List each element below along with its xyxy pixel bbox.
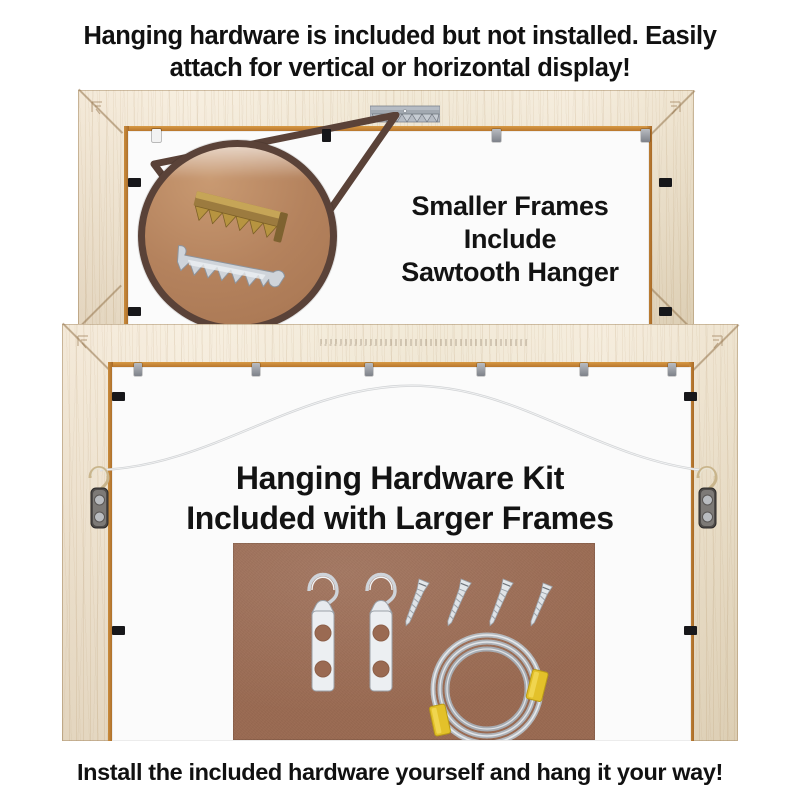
hanging-hardware-kit-label: Hanging Hardware Kit Included with Large… [130,458,670,538]
kit-contents-illustration [233,543,595,740]
magnified-sawtooth-hangers-icon [145,147,330,325]
backing-clip [684,392,697,401]
magnifier-circle [138,140,337,332]
hanging-hardware-kit-photo [233,543,595,740]
corner-staple-mark-left-icon [90,98,116,120]
backing-clip [659,178,672,187]
smaller-frames-label-line-2: Include [360,223,660,256]
d-ring-strap-hanger-left-icon [78,452,122,532]
backing-clip [477,363,485,376]
corner-staple-mark-left-icon [76,332,102,354]
top-caption-line-1: Hanging hardware is included but not ins… [0,20,800,52]
backing-clip [128,178,141,187]
backing-clip [668,363,676,376]
backing-clip [152,129,161,142]
backing-clip [641,129,650,142]
backing-clip [365,363,373,376]
backing-clip [134,363,142,376]
smaller-frames-label-line-1: Smaller Frames [360,190,660,223]
corner-staple-mark-right-icon [698,332,724,354]
backing-clip [492,129,501,142]
backing-clip [112,392,125,401]
backing-clip [112,626,125,635]
backing-clip [684,626,697,635]
backing-clip [659,307,672,316]
kit-d-ring-2 [367,575,395,692]
kit-screws [401,579,552,628]
bottom-caption: Install the included hardware yourself a… [0,757,800,787]
backing-clip [128,307,141,316]
hanging-hardware-kit-label-line-1: Hanging Hardware Kit [130,458,670,498]
hanging-hardware-kit-label-line-2: Included with Larger Frames [130,498,670,538]
top-rail-scuff [320,339,530,346]
backing-clip [322,129,331,142]
smaller-frames-label: Smaller Frames Include Sawtooth Hanger [360,190,660,289]
backing-clip [252,363,260,376]
smaller-frames-label-line-3: Sawtooth Hanger [360,256,660,289]
infographic-canvas: Hanging hardware is included but not ins… [0,0,800,800]
backing-clip [580,363,588,376]
kit-coiled-wire [429,635,549,740]
top-caption: Hanging hardware is included but not ins… [0,20,800,84]
corner-staple-mark-right-icon [656,98,682,120]
kit-d-ring-1 [309,575,337,692]
d-ring-strap-hanger-right-icon [686,452,730,532]
top-caption-line-2: attach for vertical or horizontal displa… [0,52,800,84]
